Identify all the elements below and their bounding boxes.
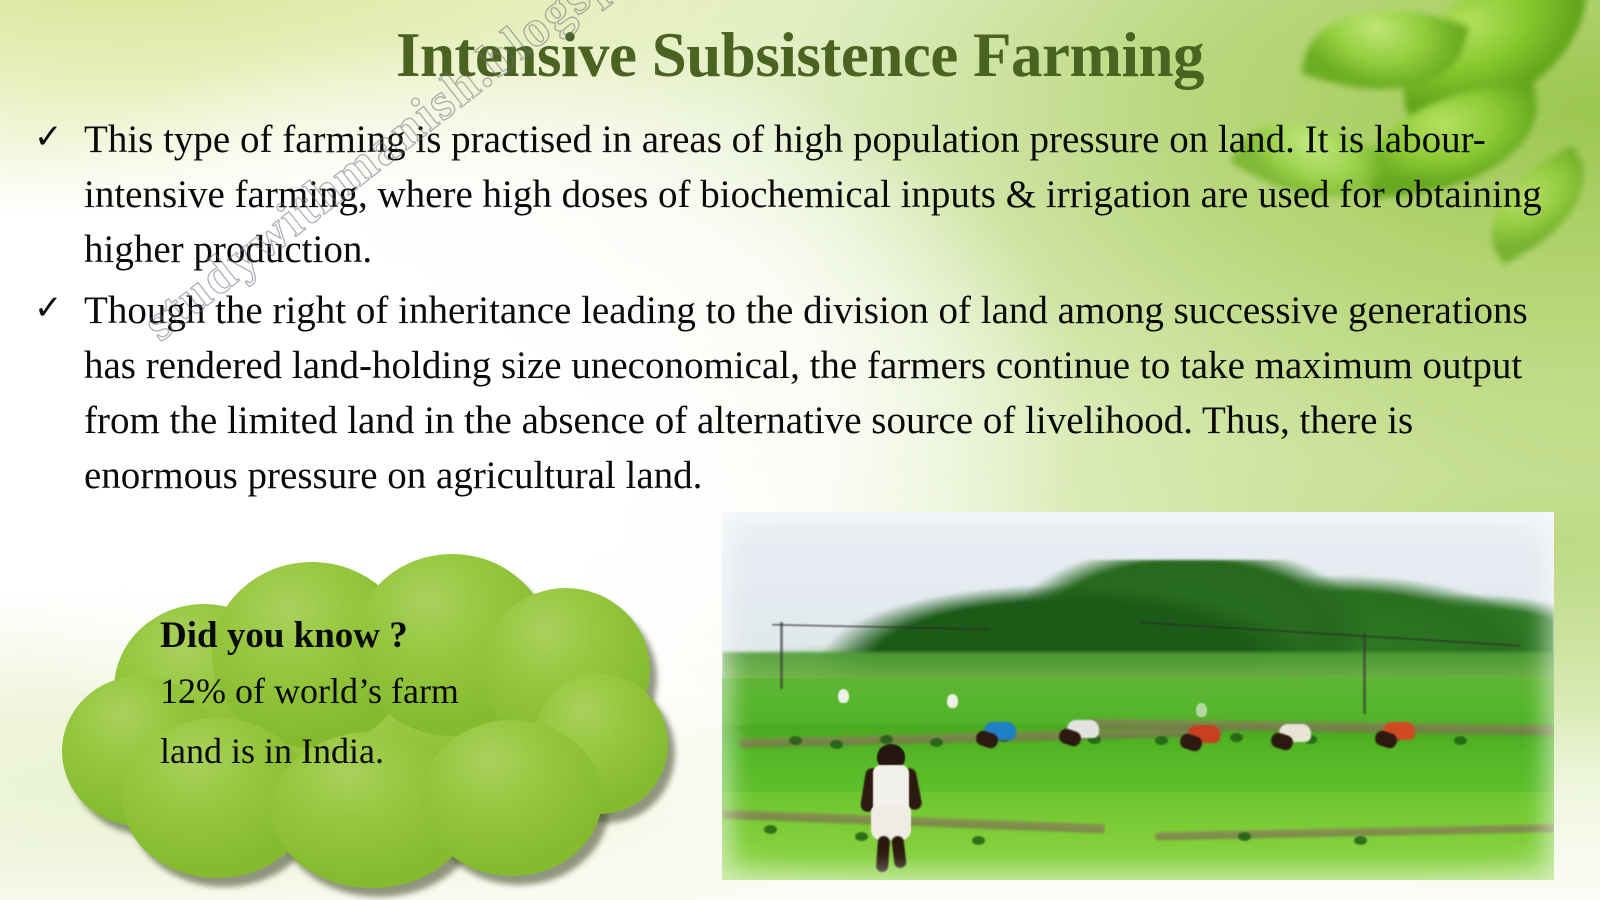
photo-seedling-clump [972,836,985,845]
photo-seedling-clump [1238,832,1251,841]
did-you-know-callout: Did you know ? 12% of world’s farm land … [62,548,662,878]
bullet-list: ✓ This type of farming is practised in a… [22,112,1582,503]
photo-farmer [863,744,921,872]
photo-worker [976,722,1020,748]
photo-bird [1196,703,1207,717]
page-title: Intensive Subsistence Farming [0,22,1600,88]
photo-bird [838,689,849,703]
callout-heading: Did you know ? [160,616,590,657]
photo-worker [1180,725,1224,751]
checkmark-icon: ✓ [22,283,84,325]
photo-seedling-clump [1354,836,1367,845]
photo-seedling-clump [764,825,777,834]
callout-text-block: Did you know ? 12% of world’s farm land … [160,616,590,781]
photo-bird [947,694,958,708]
list-item: ✓ Though the right of inheritance leadin… [22,283,1582,503]
photo-worker [1059,720,1103,746]
photo-field-front [722,792,1554,880]
photo-pole [1363,633,1366,714]
farming-photo [722,512,1554,880]
photo-worker [1271,724,1315,750]
callout-line-2: land is in India. [160,721,590,781]
slide-canvas: Intensive Subsistence Farming ✓ This typ… [0,0,1600,900]
callout-line-1: 12% of world’s farm [160,661,590,721]
photo-pole [780,622,783,688]
checkmark-icon: ✓ [22,112,84,154]
list-item-text: Though the right of inheritance leading … [84,283,1582,503]
list-item-text: This type of farming is practised in are… [84,112,1582,277]
photo-worker [1375,722,1419,748]
photo-seedling-clump [880,735,893,744]
photo-seedling-clump [1230,733,1243,742]
list-item: ✓ This type of farming is practised in a… [22,112,1582,277]
